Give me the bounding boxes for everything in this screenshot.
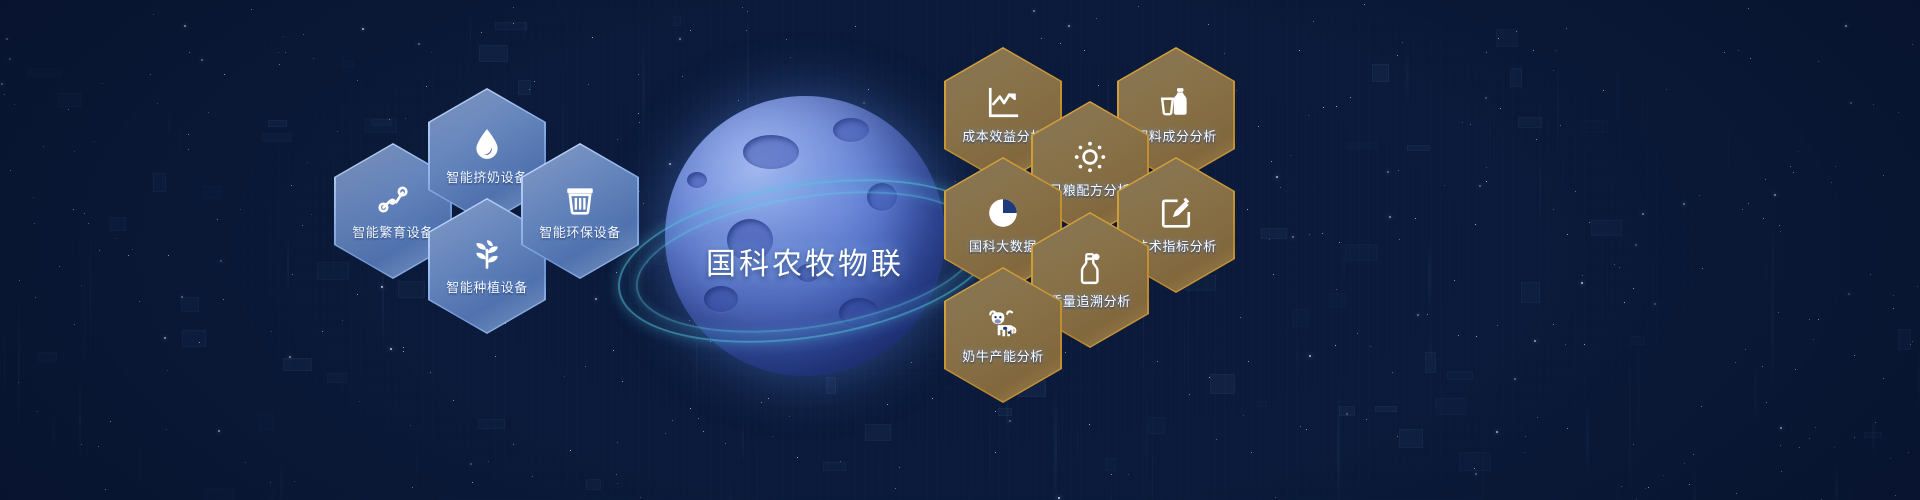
hex-label: 智能种植设备 xyxy=(446,277,528,296)
bottle-cup-icon xyxy=(1159,86,1193,120)
edit-pencil-icon xyxy=(1159,196,1193,230)
hex-label: 国科大数据 xyxy=(969,236,1037,255)
pie-chart-icon xyxy=(986,196,1020,230)
hex-label: 智能环保设备 xyxy=(539,222,621,241)
hex-label: 奶牛产能分析 xyxy=(962,346,1044,365)
hero-banner: 国科农牧物联 智能繁育设备智能挤奶设备智能种植设备智能环保设备 成本效益分析饲料… xyxy=(0,0,1920,500)
network-nodes-icon xyxy=(376,182,410,216)
sun-icon xyxy=(1073,140,1107,174)
sprout-plant-icon xyxy=(470,237,504,271)
central-globe: 国科农牧物联 xyxy=(640,96,970,426)
hex-tile-cow[interactable]: 奶牛产能分析 xyxy=(944,267,1062,403)
hex-label: 智能挤奶设备 xyxy=(446,167,528,186)
milk-bottle-icon xyxy=(1073,251,1107,285)
hex-tile-trash-bin[interactable]: 智能环保设备 xyxy=(521,143,639,279)
trash-bin-icon xyxy=(563,182,597,216)
hex-label: 智能繁育设备 xyxy=(352,222,434,241)
line-chart-icon xyxy=(986,86,1020,120)
water-drop-icon xyxy=(470,127,504,161)
page-title: 国科农牧物联 xyxy=(640,96,970,426)
cow-icon xyxy=(986,306,1020,340)
